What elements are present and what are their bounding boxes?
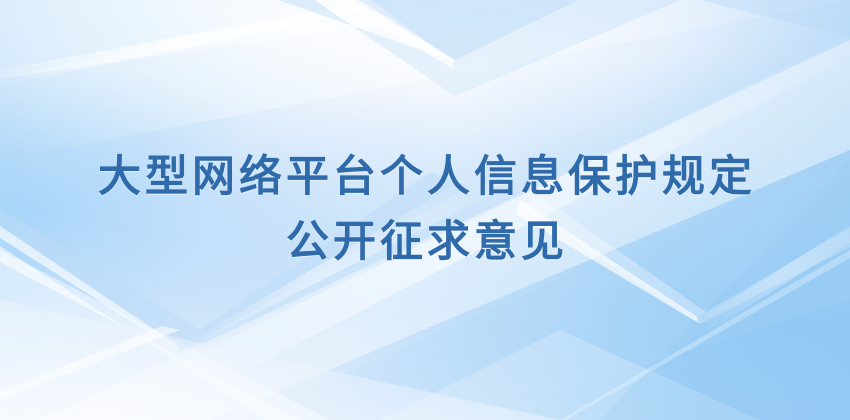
- banner-title-line-2: 公开征求意见: [282, 221, 568, 264]
- banner-title-line-1: 大型网络平台个人信息保护规定: [94, 156, 756, 199]
- banner: 大型网络平台个人信息保护规定 公开征求意见: [0, 0, 850, 420]
- banner-title-block: 大型网络平台个人信息保护规定 公开征求意见: [0, 0, 850, 420]
